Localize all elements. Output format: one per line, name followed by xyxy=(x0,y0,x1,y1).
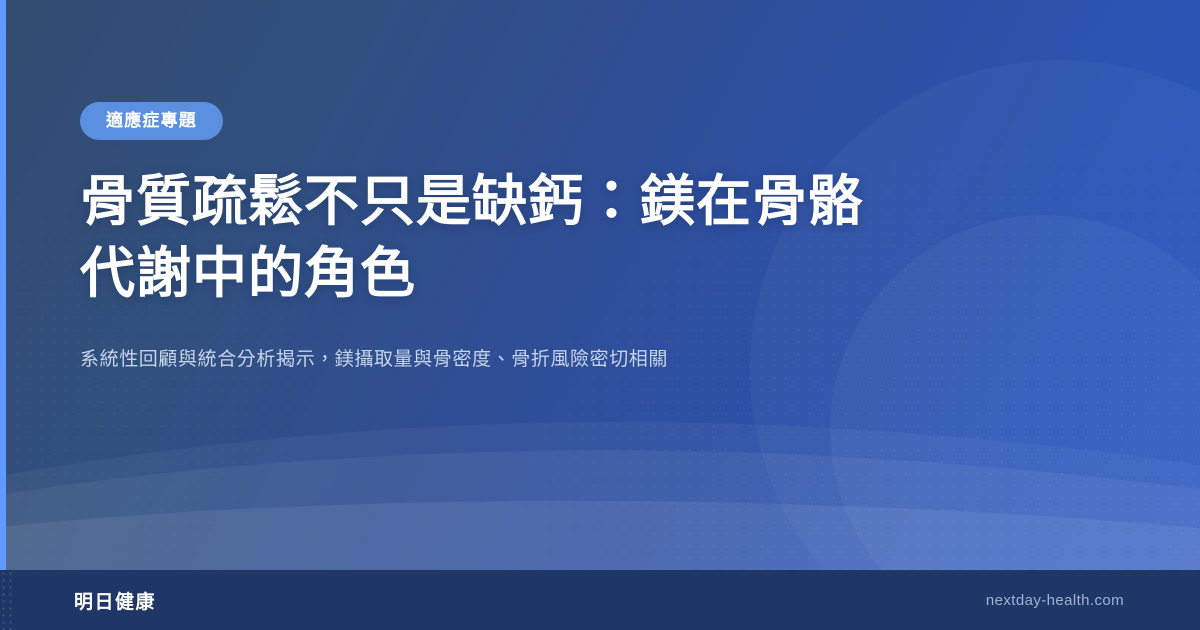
card-content: 適應症專題 骨質疏鬆不只是缺鈣：鎂在骨骼代謝中的角色 系統性回顧與統合分析揭示，… xyxy=(80,0,960,375)
wave-band-front-decoration xyxy=(0,494,1200,572)
card-footer: 明日健康 nextday-health.com xyxy=(0,570,1200,630)
site-domain: nextday-health.com xyxy=(986,592,1124,609)
wave-band-mid-decoration xyxy=(0,432,1200,572)
wave-band-back-decoration xyxy=(0,382,1200,572)
left-accent-bar xyxy=(0,0,6,570)
brand-name: 明日健康 xyxy=(74,587,156,614)
page-title: 骨質疏鬆不只是缺鈣：鎂在骨骼代謝中的角色 xyxy=(80,166,910,309)
footer-dot-texture xyxy=(0,570,14,630)
page-subtitle: 系統性回顧與統合分析揭示，鎂攝取量與骨密度、骨折風險密切相關 xyxy=(80,345,920,375)
category-badge: 適應症專題 xyxy=(80,102,223,140)
social-share-card: 適應症專題 骨質疏鬆不只是缺鈣：鎂在骨骼代謝中的角色 系統性回顧與統合分析揭示，… xyxy=(0,0,1200,630)
